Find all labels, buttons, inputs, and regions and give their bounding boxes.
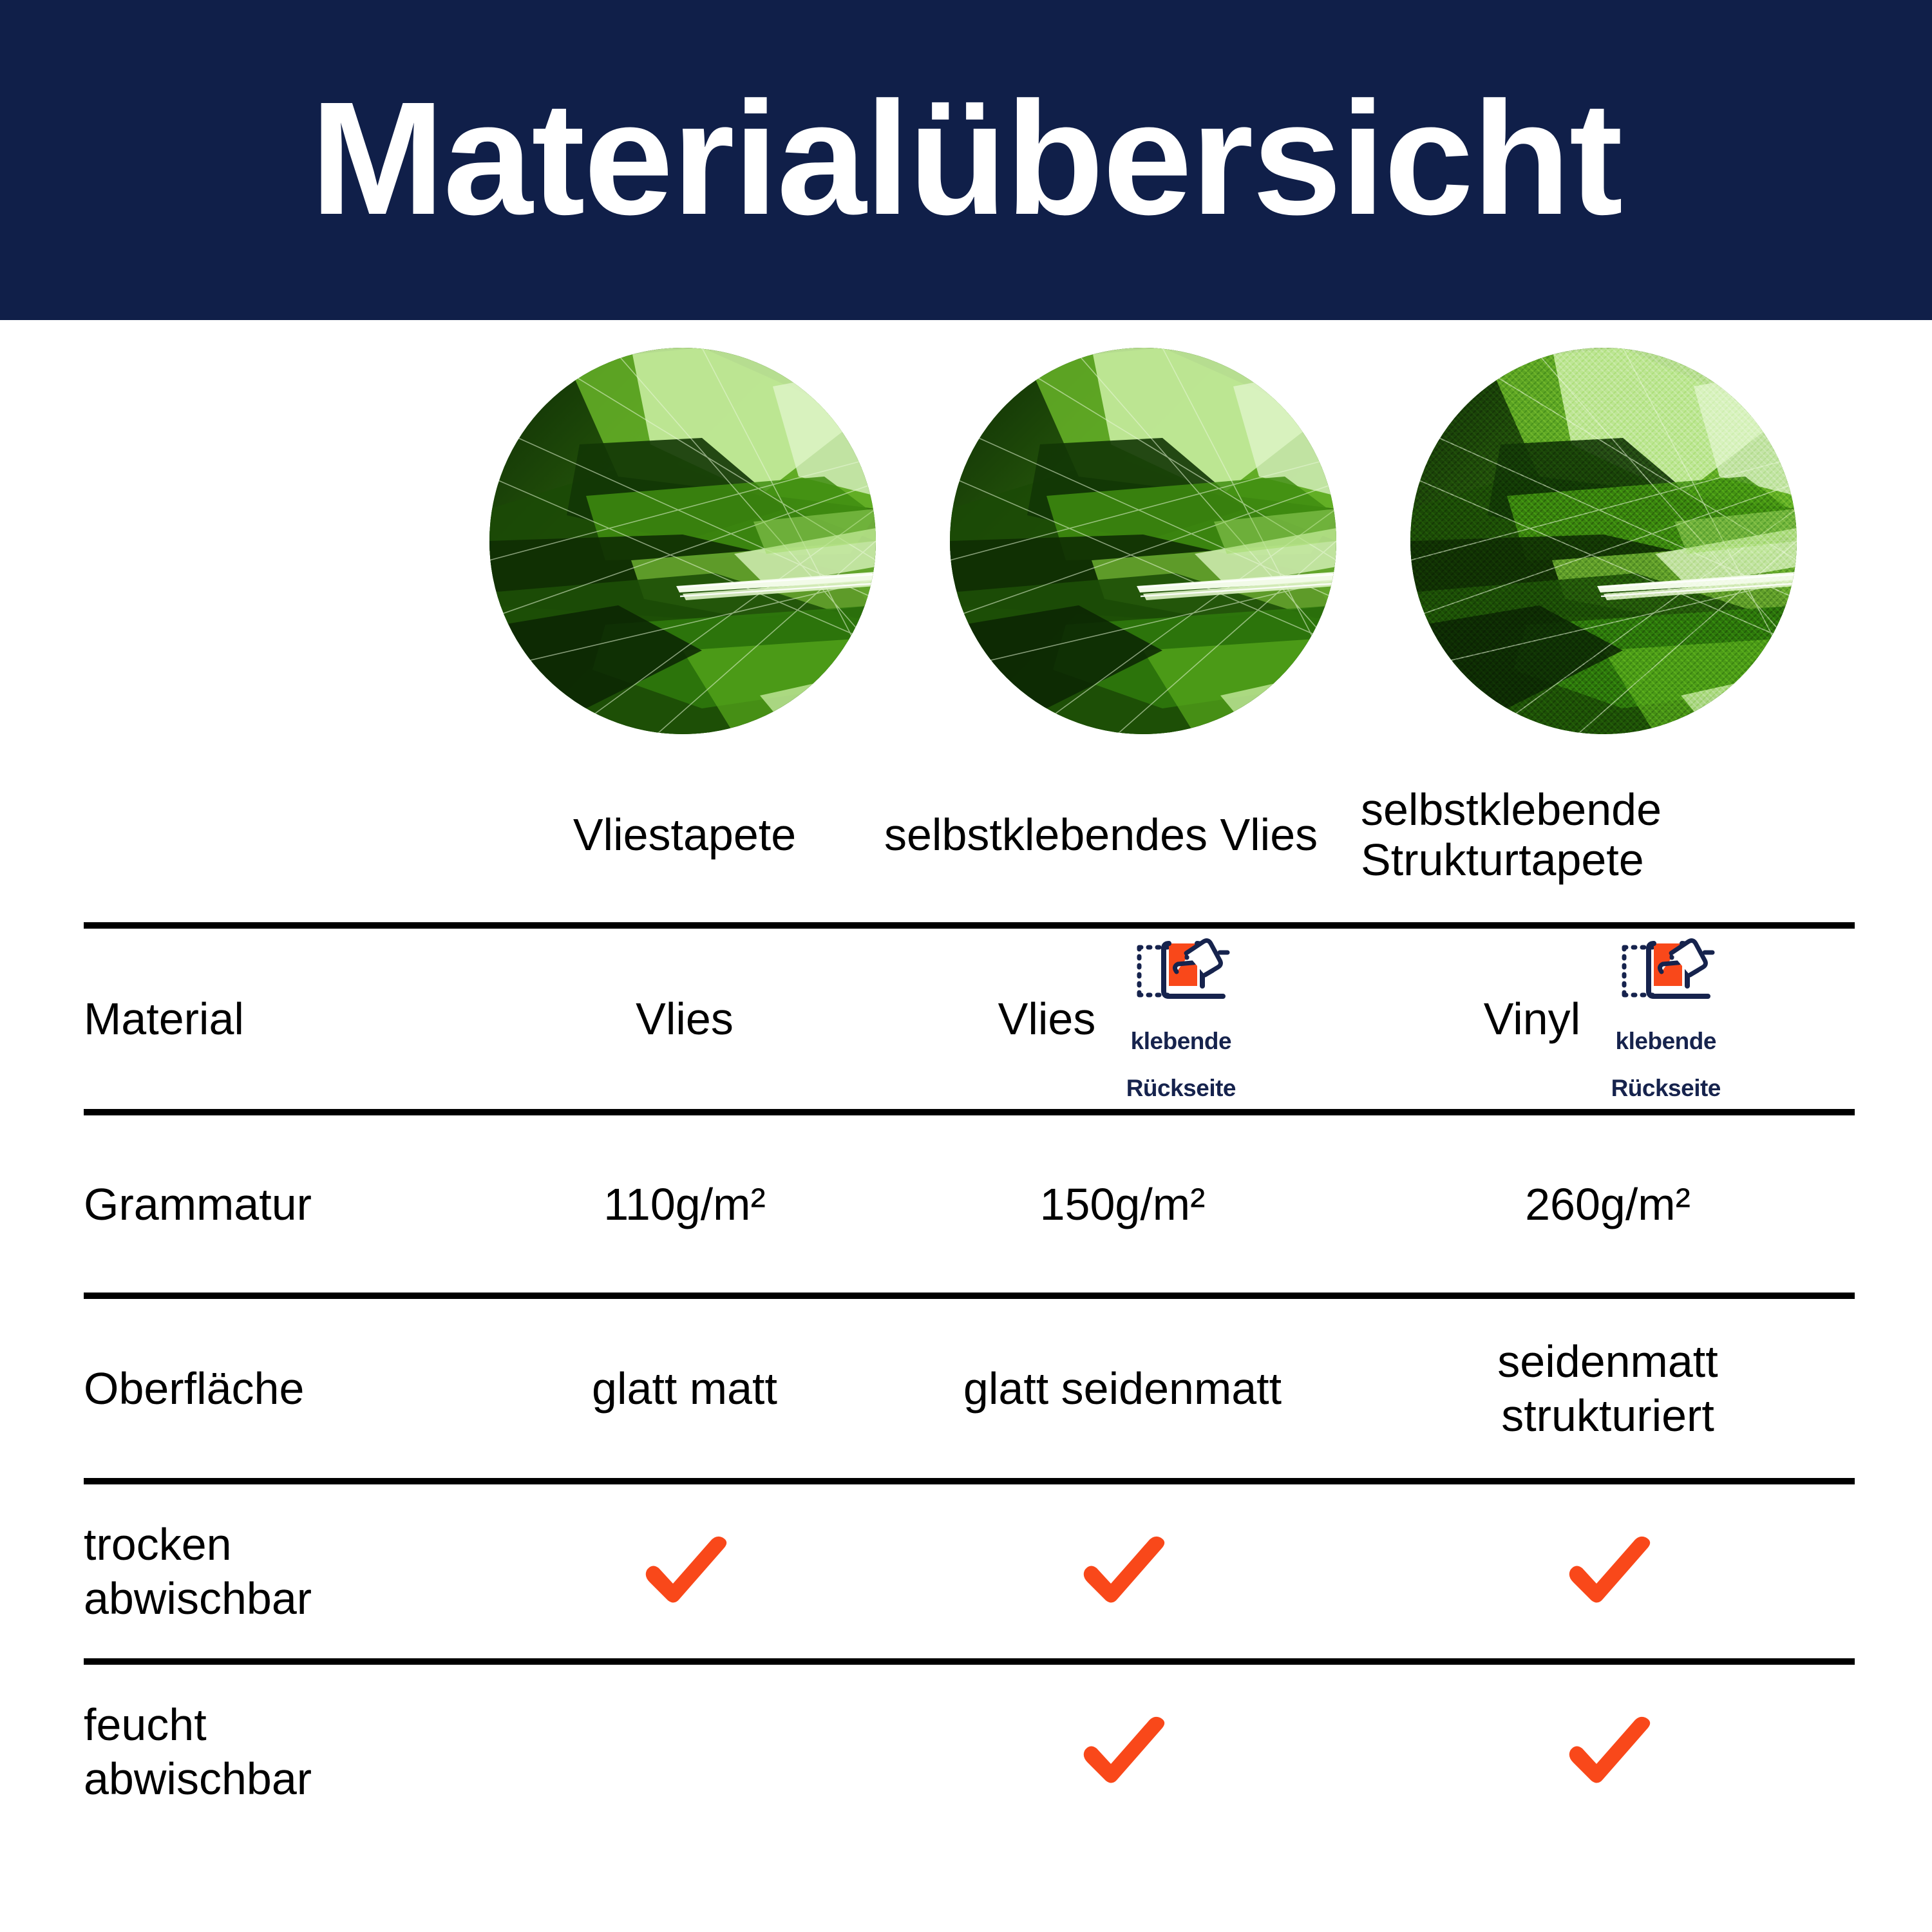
badge-label-line1: klebende — [1131, 1028, 1231, 1054]
check-icon — [1077, 1716, 1168, 1787]
cell-text: Vlies — [998, 992, 1096, 1046]
check-icon — [639, 1536, 730, 1607]
peel-adhesive-back-icon — [1611, 933, 1721, 1010]
table-row-feucht-abwischbar: feucht abwischbar — [84, 1662, 1855, 1839]
header-banner: Materialübersicht — [0, 0, 1932, 320]
badge-label-line1: klebende — [1616, 1028, 1716, 1054]
header-cell-selbstklebende-strukturtapete: selbstklebende Strukturtapete — [1361, 747, 1855, 925]
table-header-row: Vliestapete selbstklebendes Vlies selbst… — [84, 747, 1855, 925]
swatch-vliestapete — [489, 348, 876, 734]
cell-trocken-selbstklebendes-vlies — [884, 1481, 1361, 1662]
material-comparison-table: Vliestapete selbstklebendes Vlies selbst… — [84, 747, 1855, 1839]
row-label-trocken-abwischbar: trocken abwischbar — [84, 1481, 485, 1662]
cell-material-selbstklebendes-vlies: Vlies — [884, 925, 1361, 1112]
adhesive-back-badge: klebende Rückseite — [1115, 933, 1247, 1105]
badge-label-line2: Rückseite — [1611, 1075, 1721, 1101]
cell-grammatur-selbstklebende-strukturtapete: 260g/m² — [1361, 1112, 1855, 1296]
cell-oberflaeche-vliestapete: glatt matt — [485, 1296, 884, 1481]
swatch-selbstklebendes-vlies — [950, 348, 1336, 734]
swatch-selbstklebende-strukturtapete — [1410, 348, 1797, 734]
cell-material-selbstklebende-strukturtapete: Vinyl — [1361, 925, 1855, 1112]
table-row-trocken-abwischbar: trocken abwischbar — [84, 1481, 1855, 1662]
page-title: Materialübersicht — [310, 78, 1622, 239]
table-row-material: Material Vlies Vlies — [84, 925, 1855, 1112]
header-cell-blank — [84, 747, 485, 925]
cell-text: Vlies — [636, 992, 734, 1046]
cell-feucht-selbstklebendes-vlies — [884, 1662, 1361, 1839]
peel-adhesive-back-icon — [1126, 933, 1236, 1010]
header-cell-selbstklebendes-vlies: selbstklebendes Vlies — [884, 747, 1361, 925]
row-label-feucht-abwischbar: feucht abwischbar — [84, 1662, 485, 1839]
cell-trocken-vliestapete — [485, 1481, 884, 1662]
swatch-row — [0, 348, 1932, 747]
cell-oberflaeche-selbstklebende-strukturtapete: seidenmatt strukturiert — [1361, 1296, 1855, 1481]
cell-material-vliestapete: Vlies — [485, 925, 884, 1112]
cell-text: Vinyl — [1484, 992, 1580, 1046]
cell-grammatur-selbstklebendes-vlies: 150g/m² — [884, 1112, 1361, 1296]
table-row-oberflaeche: Oberfläche glatt matt glatt seidenmatt s… — [84, 1296, 1855, 1481]
row-label-grammatur: Grammatur — [84, 1112, 485, 1296]
row-label-oberflaeche: Oberfläche — [84, 1296, 485, 1481]
row-label-material: Material — [84, 925, 485, 1112]
check-icon — [1563, 1536, 1653, 1607]
header-cell-vliestapete: Vliestapete — [485, 747, 884, 925]
material-overview-infographic: Materialübersicht — [0, 0, 1932, 1932]
cell-oberflaeche-selbstklebendes-vlies: glatt seidenmatt — [884, 1296, 1361, 1481]
adhesive-back-badge: klebende Rückseite — [1600, 933, 1732, 1105]
cell-grammatur-vliestapete: 110g/m² — [485, 1112, 884, 1296]
cell-trocken-selbstklebende-strukturtapete — [1361, 1481, 1855, 1662]
cell-feucht-selbstklebende-strukturtapete — [1361, 1662, 1855, 1839]
cell-feucht-vliestapete — [485, 1662, 884, 1839]
badge-label-line2: Rückseite — [1126, 1075, 1236, 1101]
check-icon — [1077, 1536, 1168, 1607]
check-icon — [1563, 1716, 1653, 1787]
table-row-grammatur: Grammatur 110g/m² 150g/m² 260g/m² — [84, 1112, 1855, 1296]
